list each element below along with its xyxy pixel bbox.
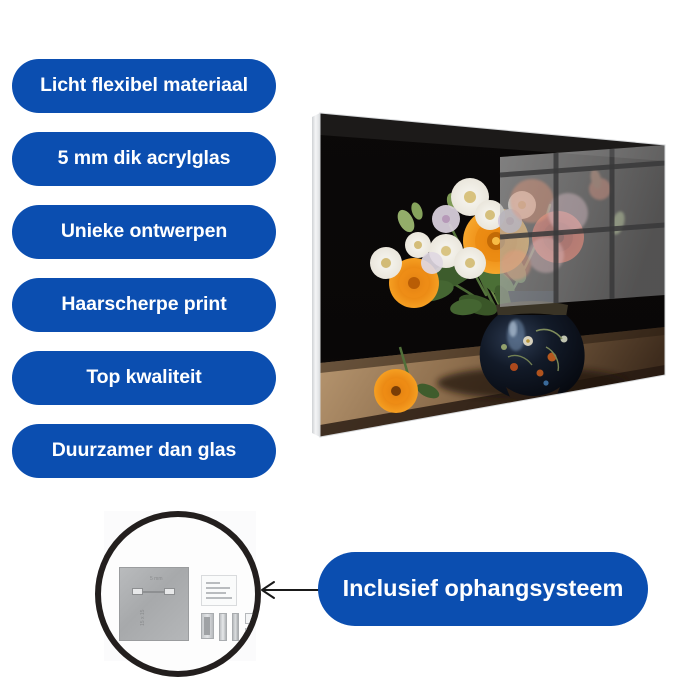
mounting-plate-slot xyxy=(164,588,175,595)
drill-bit xyxy=(232,613,239,641)
feature-badge-licht-flexibel-materiaal[interactable]: Licht flexibel materiaal xyxy=(12,59,276,113)
acrylic-window-glare xyxy=(500,145,665,307)
feature-badge-haarscherpe-print[interactable]: Haarscherpe print xyxy=(12,278,276,332)
feature-badge-top-kwaliteit[interactable]: Top kwaliteit xyxy=(12,351,276,405)
instruction-leaflet xyxy=(201,575,237,606)
mounting-plate: 5 mm 15 x 15 xyxy=(119,567,189,641)
feature-badge-label: Licht flexibel materiaal xyxy=(40,76,248,96)
feature-badge-label: Duurzamer dan glas xyxy=(52,441,237,461)
callout-badge-inclusief-ophangsysteem[interactable]: Inclusief ophangsysteem xyxy=(318,552,648,626)
mounting-plate-marking-top: 5 mm xyxy=(150,576,163,582)
mounting-plate-marking-side: 15 x 15 xyxy=(140,610,146,626)
feature-badge-label: Unieke ontwerpen xyxy=(61,222,227,242)
feature-badge-5-mm-dik-acrylglas[interactable]: 5 mm dik acrylglas xyxy=(12,132,276,186)
feature-badge-list: Licht flexibel materiaal 5 mm dik acrylg… xyxy=(12,59,276,497)
artwork-image xyxy=(300,95,700,455)
feature-badge-label: 5 mm dik acrylglas xyxy=(58,149,231,169)
feature-badge-duurzamer-dan-glas[interactable]: Duurzamer dan glas xyxy=(12,424,276,478)
feature-badge-label: Top kwaliteit xyxy=(86,368,201,388)
adhesive-pad xyxy=(245,613,258,624)
callout-badge-label: Inclusief ophangsysteem xyxy=(343,577,624,601)
screw xyxy=(219,613,227,641)
acrylic-panel-mockup xyxy=(300,95,700,455)
feature-badge-label: Haarscherpe print xyxy=(61,295,226,315)
feature-badge-unieke-ontwerpen[interactable]: Unieke ontwerpen xyxy=(12,205,276,259)
callout-connector-arrow xyxy=(252,576,326,604)
acrylic-panel-svg xyxy=(300,95,700,455)
mounting-plate-bar xyxy=(143,591,165,593)
mounting-kit-circle[interactable]: 5 mm 15 x 15 xyxy=(95,511,261,677)
mounting-plate-slot xyxy=(132,588,143,595)
adhesive-pad xyxy=(245,628,258,639)
acrylic-edge-thickness xyxy=(312,113,320,437)
mounting-kit-contents: 5 mm 15 x 15 xyxy=(101,517,255,671)
wall-plug-core xyxy=(204,617,210,635)
product-feature-graphic: Licht flexibel materiaal 5 mm dik acrylg… xyxy=(0,0,700,700)
